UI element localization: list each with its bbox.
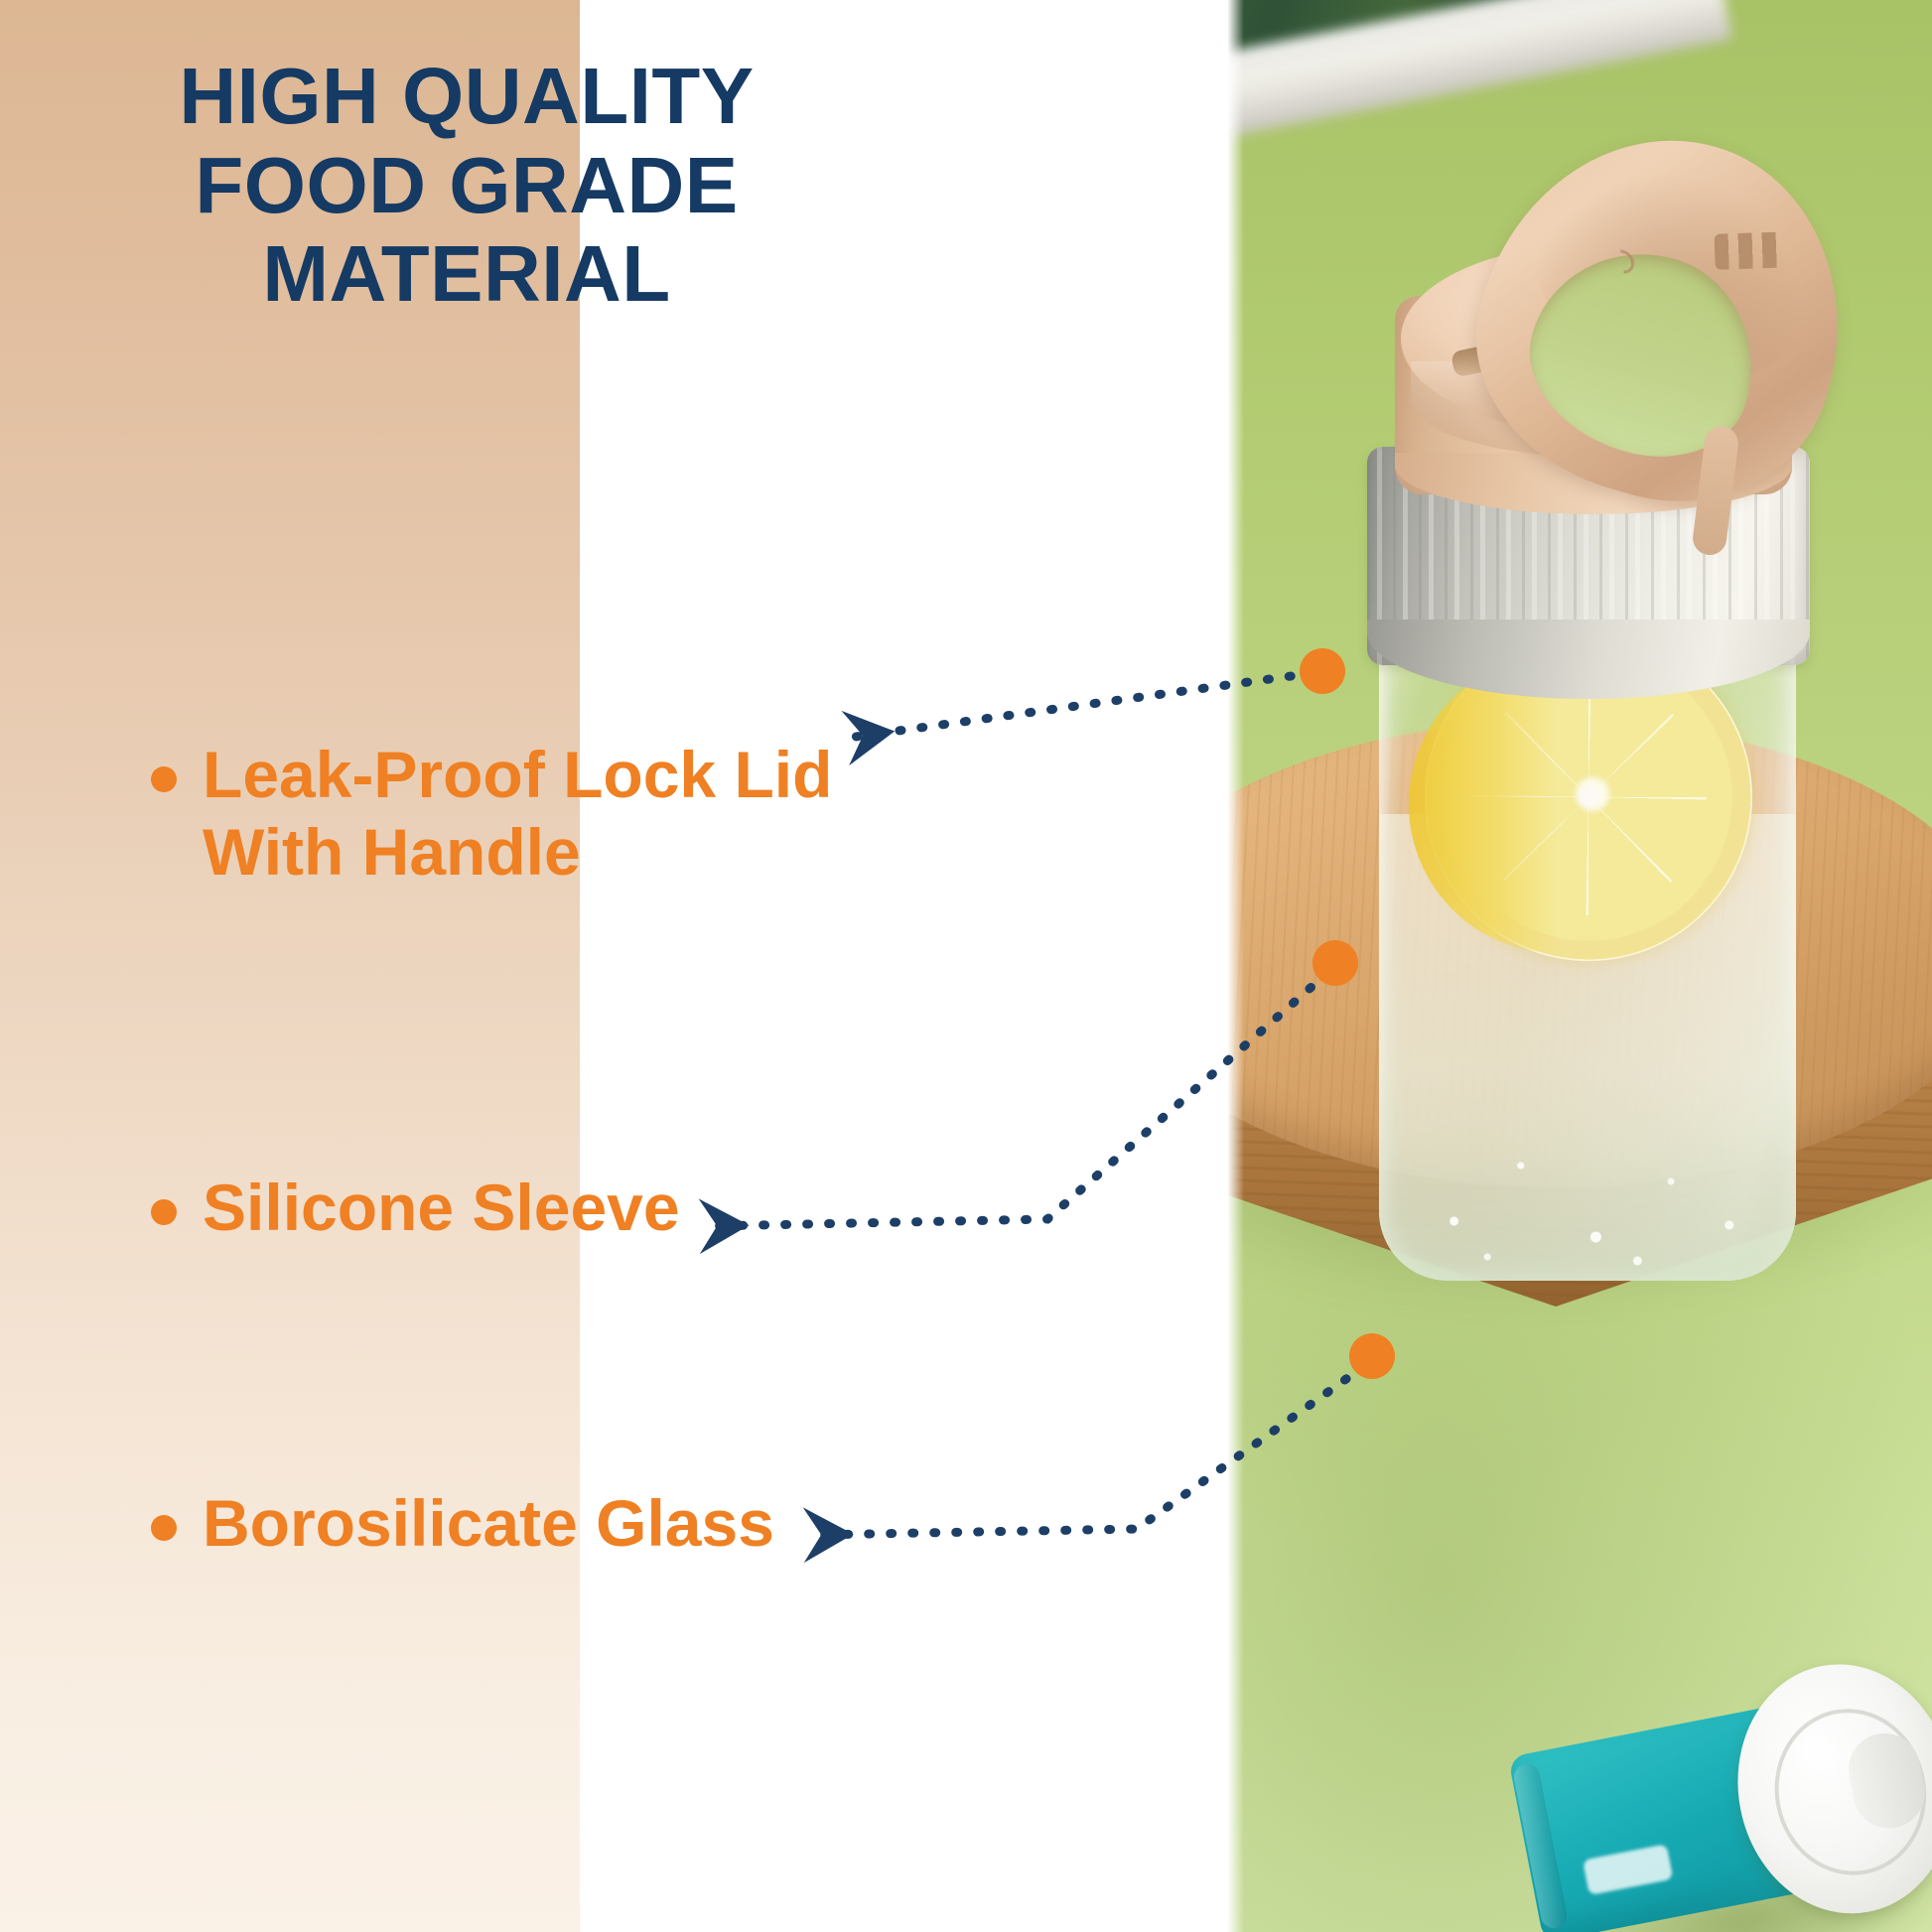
feature-label: Silicone Sleeve [203, 1170, 680, 1247]
bubbles [1379, 1082, 1796, 1281]
feature-item-borosilicate-glass: Borosilicate Glass [151, 1485, 886, 1563]
title-line-1: HIGH QUALITY [119, 52, 814, 141]
feature-label: Borosilicate Glass [203, 1485, 774, 1563]
bullet-dot-icon [151, 766, 177, 792]
panel-seam [1228, 0, 1244, 1932]
feature-item-leak-proof-lock-lid: Leak-Proof Lock Lid With Handle [151, 737, 886, 892]
left-text-panel: HIGH QUALITY FOOD GRADE MATERIAL Leak-Pr… [0, 0, 1231, 1932]
product-photo [1228, 0, 1932, 1932]
feature-item-silicone-sleeve: Silicone Sleeve [151, 1170, 846, 1247]
handle-vent-slots-icon [1715, 231, 1793, 270]
bullet-dot-icon [151, 1199, 177, 1225]
bullet-dot-icon [151, 1515, 177, 1541]
title-line-3: MATERIAL [119, 229, 814, 319]
infographic-canvas: HIGH QUALITY FOOD GRADE MATERIAL Leak-Pr… [0, 0, 1932, 1932]
title-line-2: FOOD GRADE [119, 141, 814, 230]
page-title: HIGH QUALITY FOOD GRADE MATERIAL [119, 52, 814, 319]
feature-label: Leak-Proof Lock Lid With Handle [203, 737, 832, 892]
glass-bottle [1367, 149, 1834, 1320]
